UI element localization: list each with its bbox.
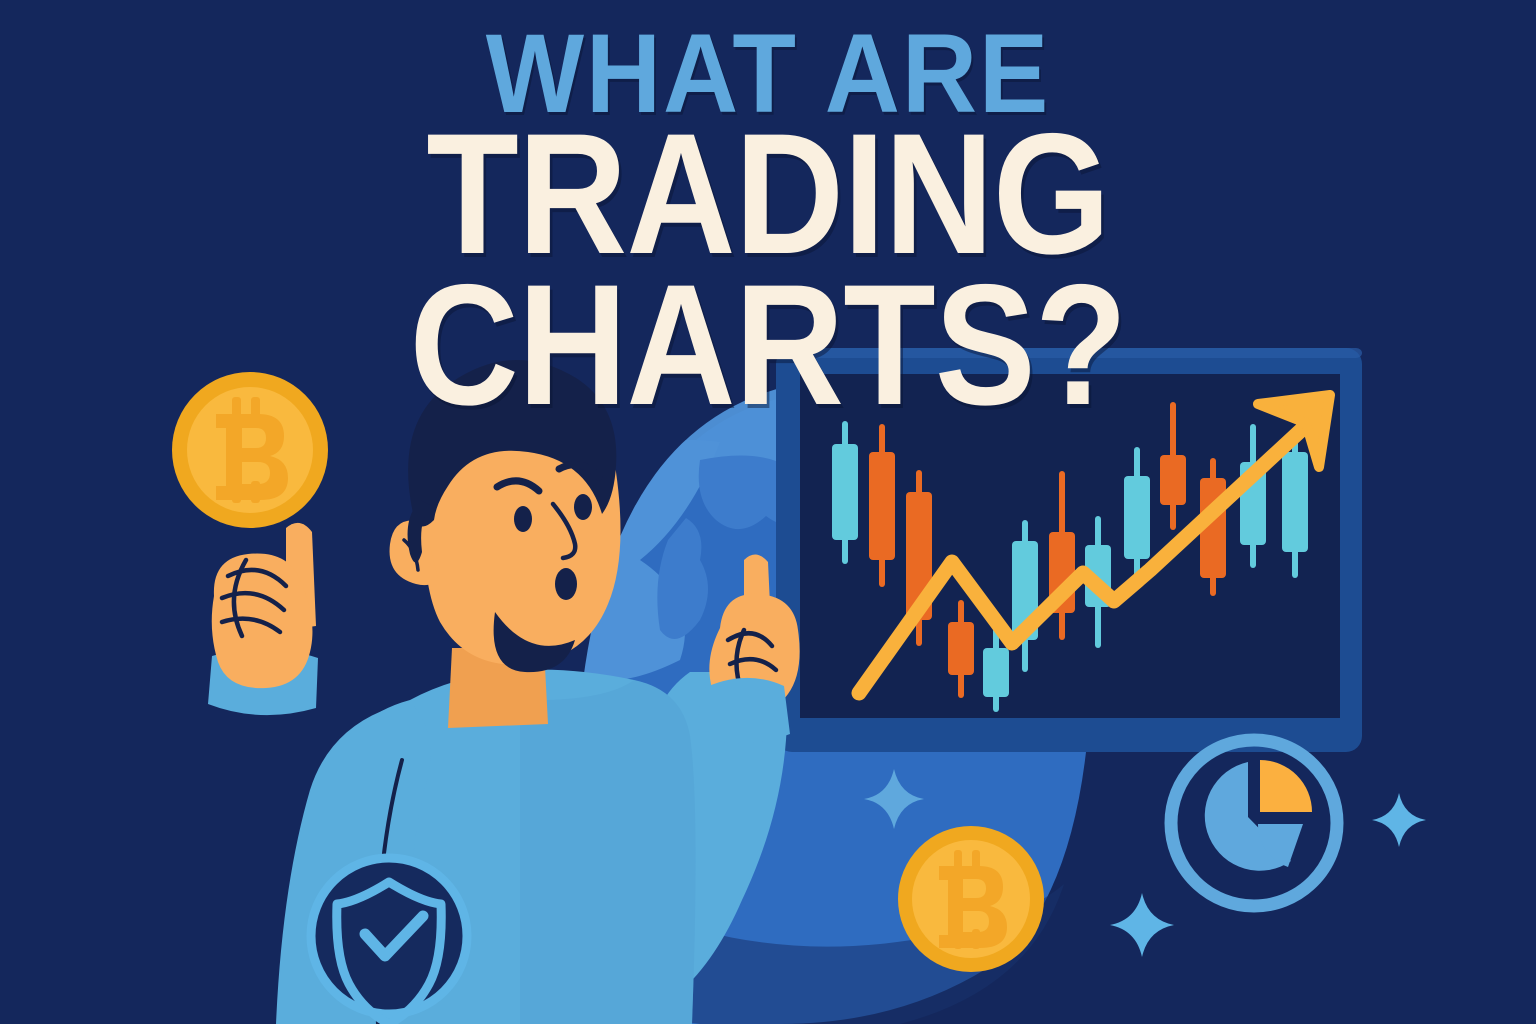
trading-monitor[interactable] xyxy=(776,348,1362,752)
character-eye-right xyxy=(574,494,592,520)
bitcoin-coin-upper-left xyxy=(172,372,328,528)
bitcoin-coin-lower-center xyxy=(898,826,1044,972)
character-eye-left xyxy=(514,506,532,532)
scene-illustration xyxy=(0,0,1536,1024)
character-mouth xyxy=(555,568,577,600)
poster-canvas: WHAT ARE TRADING CHARTS? xyxy=(0,0,1536,1024)
